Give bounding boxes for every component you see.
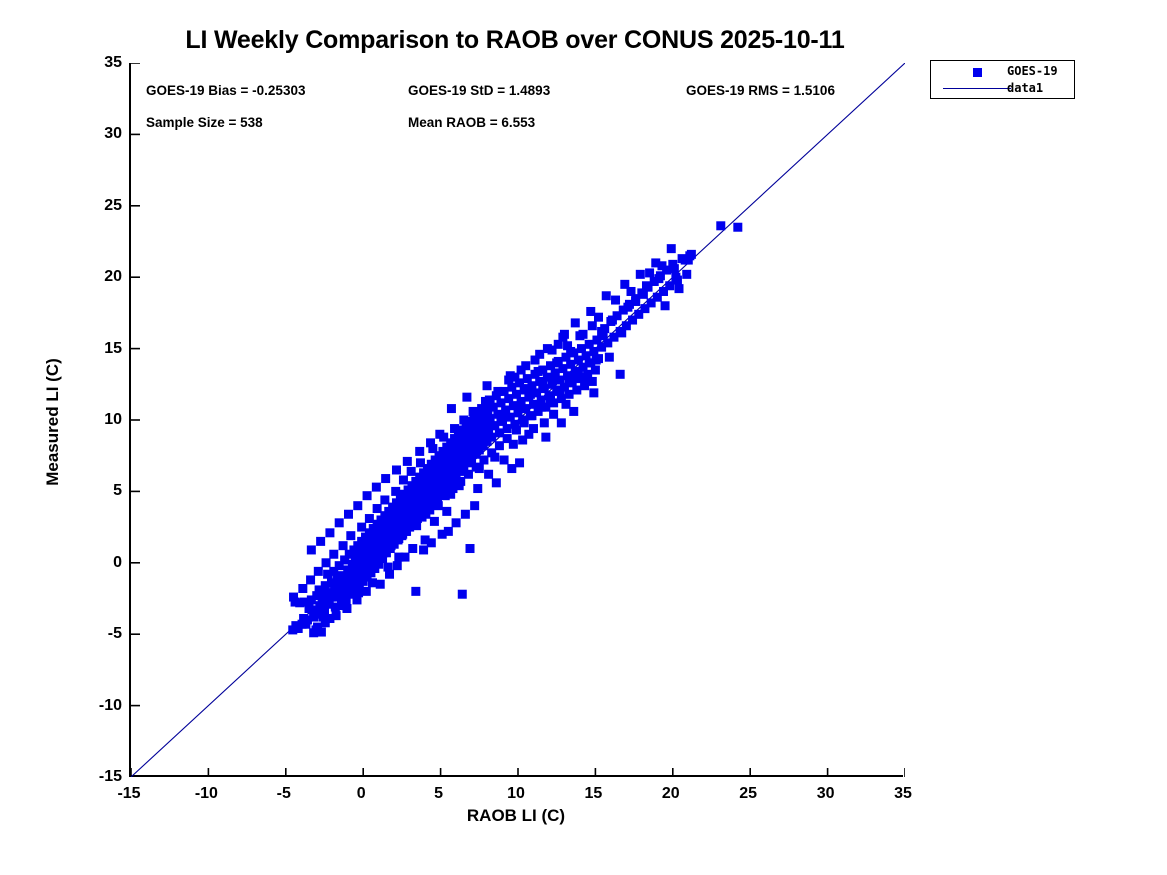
x-tick-label: 10	[481, 785, 551, 803]
scatter-plot-canvas	[131, 63, 905, 777]
legend-label-goes19: GOES-19	[1007, 64, 1058, 78]
scatter-points	[288, 221, 742, 637]
plot-area	[129, 63, 903, 777]
chart-legend[interactable]: GOES-19 data1	[930, 60, 1075, 99]
line-swatch-icon	[943, 88, 1011, 89]
y-tick-label: 15	[62, 340, 122, 358]
y-tick-label: 35	[62, 54, 122, 72]
legend-label-data1: data1	[1007, 81, 1043, 95]
chart-figure: LI Weekly Comparison to RAOB over CONUS …	[0, 0, 1167, 875]
y-tick-label: 5	[62, 482, 122, 500]
legend-entry-goes19[interactable]: GOES-19	[931, 63, 1076, 81]
y-tick-label: 0	[62, 554, 122, 572]
x-tick-label: 0	[326, 785, 396, 803]
legend-entry-data1[interactable]: data1	[931, 80, 1076, 98]
x-tick-label: -15	[94, 785, 164, 803]
legend-key-line	[939, 80, 1005, 98]
x-tick-label: -5	[249, 785, 319, 803]
x-axis-title: RAOB LI (C)	[129, 806, 903, 826]
y-tick-label: 30	[62, 125, 122, 143]
y-tick-label: -15	[62, 768, 122, 786]
y-axis-tick-labels: -15-10-505101520253035	[56, 63, 122, 777]
x-tick-label: 15	[558, 785, 628, 803]
y-tick-label: 25	[62, 197, 122, 215]
y-tick-label: -10	[62, 697, 122, 715]
y-tick-label: 10	[62, 411, 122, 429]
x-axis-tick-labels: -15-10-505101520253035	[129, 781, 903, 803]
x-tick-label: 35	[868, 785, 938, 803]
legend-key-marker	[939, 63, 1005, 81]
chart-title: LI Weekly Comparison to RAOB over CONUS …	[0, 26, 1030, 55]
x-tick-label: 20	[636, 785, 706, 803]
x-tick-label: 25	[713, 785, 783, 803]
square-marker-icon	[973, 68, 982, 77]
y-tick-label: 20	[62, 268, 122, 286]
x-tick-label: 30	[791, 785, 861, 803]
y-tick-label: -5	[62, 625, 122, 643]
x-tick-label: -10	[171, 785, 241, 803]
y-axis-title: Measured LI (C)	[43, 332, 63, 512]
x-tick-label: 5	[404, 785, 474, 803]
